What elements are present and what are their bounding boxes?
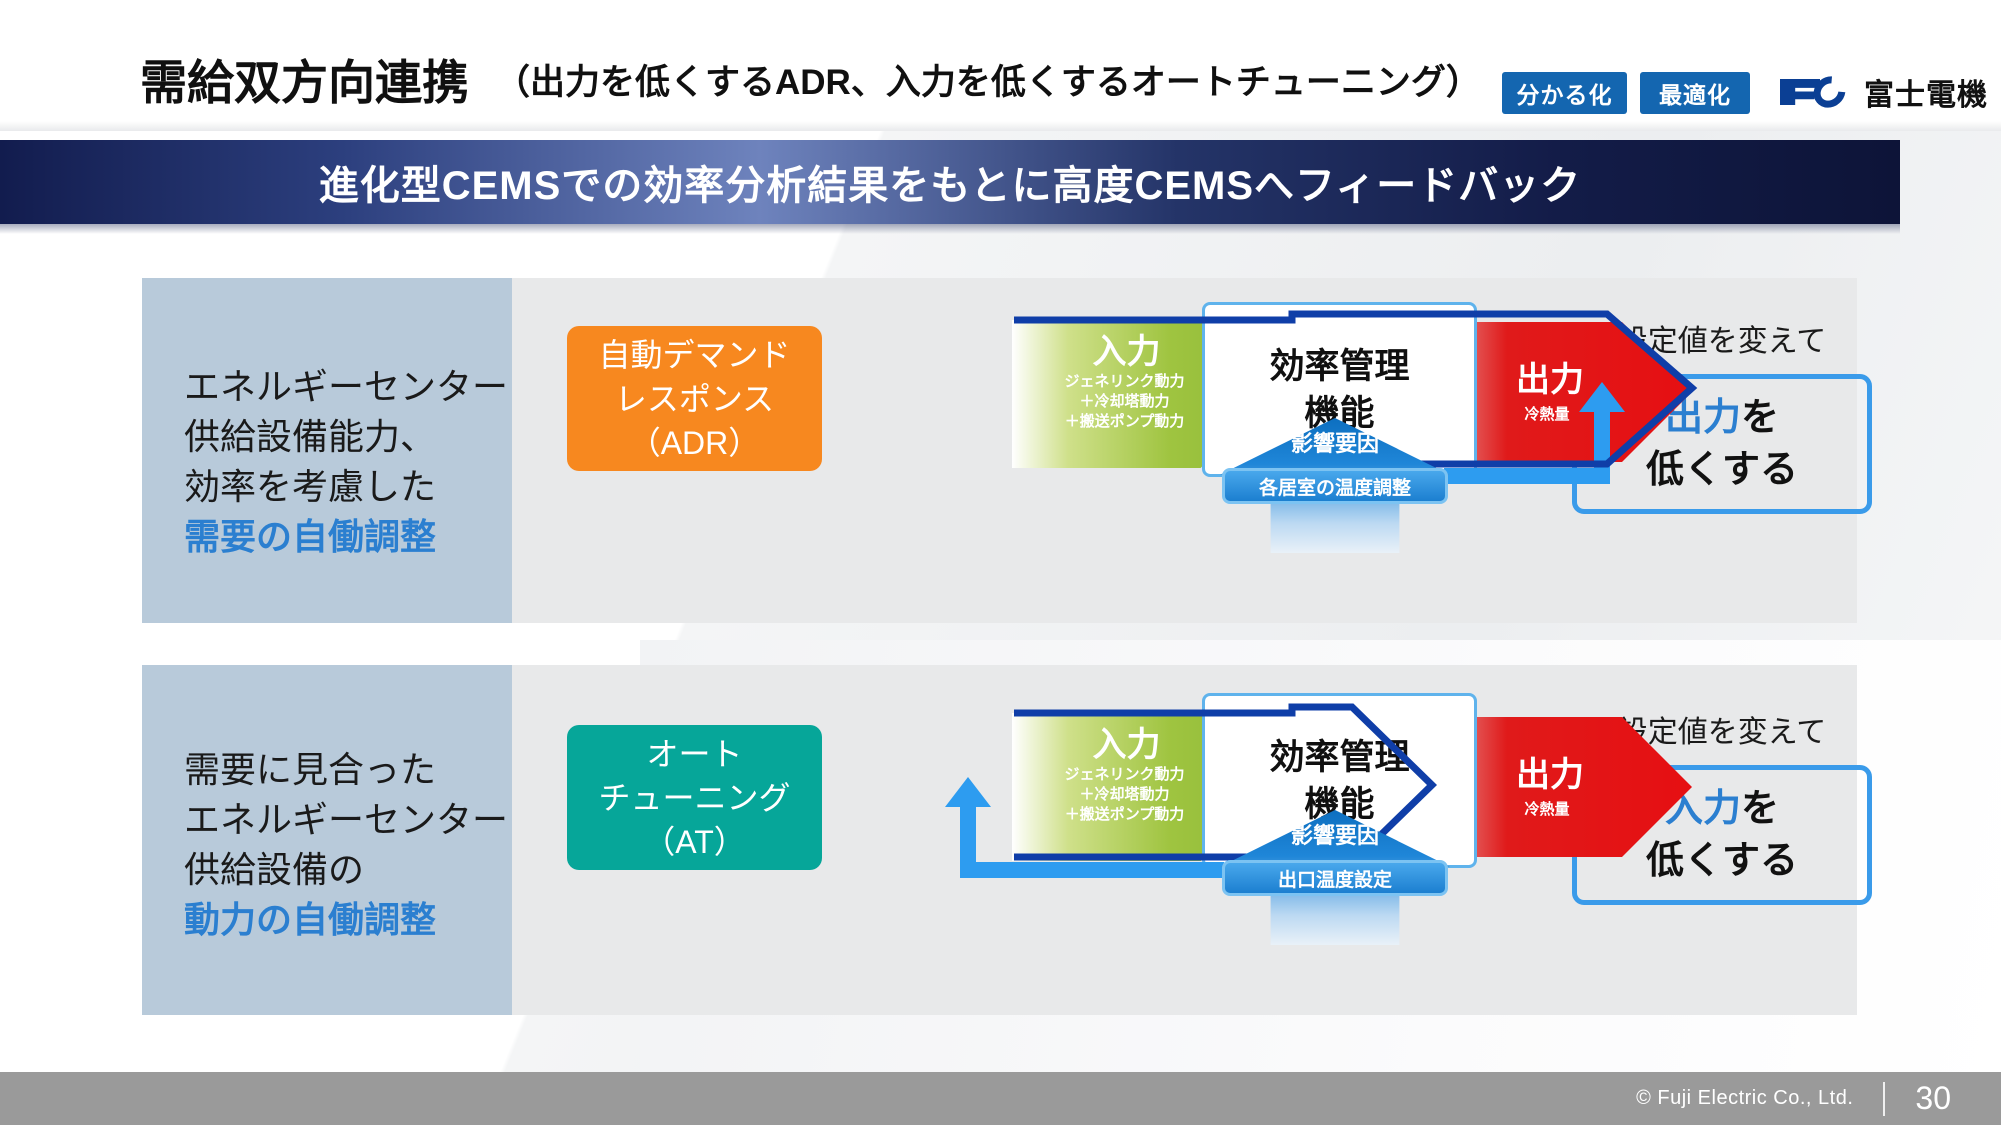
left-line-1: エネルギーセンター (184, 362, 508, 412)
row-left-description: 需要に見合った エネルギーセンター 供給設備の 動力の自働調整 (184, 745, 508, 945)
feedback-arrow-head-icon (945, 777, 991, 811)
logo-circle-shape (1807, 70, 1852, 114)
influence-title: 影響要因 (1220, 818, 1450, 850)
influence-factor-group: 影響要因 出口温度設定 (1220, 810, 1450, 945)
input-arrow-title: 入力 (1093, 332, 1161, 372)
output-detail: 冷熱量 (1524, 403, 1569, 424)
header-divider (0, 121, 2001, 131)
action-label-line-3: （AT） (643, 820, 746, 864)
influence-item-pill[interactable]: 各居室の温度調整 (1222, 468, 1448, 504)
center-card-line-1: 効率管理 (1269, 343, 1409, 390)
output-arrow-title: 出力 (1516, 756, 1584, 794)
action-box-adr[interactable]: 自動デマンド レスポンス （ADR） (567, 326, 822, 471)
row-left-panel: 需要に見合った エネルギーセンター 供給設備の 動力の自働調整 (142, 665, 512, 1015)
left-line-1: 需要に見合った (184, 745, 508, 795)
input-arrow-title: 入力 (1093, 725, 1161, 765)
footer-divider (1883, 1082, 1885, 1116)
footer-copyright: © Fuji Electric Co., Ltd. (1636, 1087, 1853, 1110)
output-arrow-title: 出力 (1516, 361, 1584, 399)
feedback-pipe-vertical (960, 805, 976, 865)
action-label-line-2: レスポンス (615, 377, 774, 421)
input-detail-2: ＋冷却塔動力 (1079, 785, 1169, 805)
influence-factor-group: 影響要因 各居室の温度調整 (1220, 418, 1450, 553)
action-label-line-2: チューニング (598, 776, 790, 820)
feedback-pipe-horizontal (1444, 468, 1610, 484)
slide-header: 需給双方向連携 （出力を低くするADR、入力を低くするオートチューニング） 分か… (0, 0, 2001, 122)
left-line-2: 供給設備能力、 (184, 412, 508, 462)
input-detail-1: ジェネリンク動力 (1064, 372, 1184, 392)
left-line-accent: 動力の自働調整 (184, 895, 508, 945)
influence-item-pill[interactable]: 出口温度設定 (1222, 860, 1448, 896)
left-line-3: 供給設備の (184, 845, 508, 895)
influence-title: 影響要因 (1220, 426, 1450, 458)
section-banner-shadow (0, 224, 1900, 234)
badge-wakaruka[interactable]: 分かる化 (1502, 72, 1627, 114)
row-left-description: エネルギーセンター 供給設備能力、 効率を考慮した 需要の自働調整 (184, 362, 508, 562)
fuji-logo-icon (1780, 75, 1854, 109)
output-detail: 冷熱量 (1524, 798, 1569, 819)
action-label-line-3: （ADR） (629, 421, 761, 465)
input-detail-1: ジェネリンク動力 (1064, 765, 1184, 785)
diagram-row-adr: エネルギーセンター 供給設備能力、 効率を考慮した 需要の自働調整 自動デマンド… (142, 278, 1857, 623)
feedback-pipe-horizontal (960, 862, 1224, 878)
input-detail-2: ＋冷却塔動力 (1079, 392, 1169, 412)
result-line-2: 低くする (1646, 835, 1798, 887)
feedback-arrow-head-icon (1579, 382, 1625, 416)
section-banner-text: 進化型CEMSでの効率分析結果をもとに高度CEMSへフィードバック (319, 153, 1582, 211)
fuji-electric-logo: 富士電機 (1780, 70, 1988, 114)
slide-footer: © Fuji Electric Co., Ltd. 30 (0, 1072, 2001, 1125)
row-left-panel: エネルギーセンター 供給設備能力、 効率を考慮した 需要の自働調整 (142, 278, 512, 623)
page-title: 需給双方向連携 (140, 44, 469, 113)
input-detail-3: ＋搬送ポンプ動力 (1065, 412, 1185, 432)
center-card-line-1: 効率管理 (1269, 734, 1409, 781)
section-banner: 進化型CEMSでの効率分析結果をもとに高度CEMSへフィードバック (0, 140, 1900, 224)
action-label-line-1: オート (646, 732, 742, 776)
action-box-at[interactable]: オート チューニング （AT） (567, 725, 822, 870)
badge-saitekika[interactable]: 最適化 (1640, 72, 1750, 114)
result-tail: を (1741, 788, 1779, 830)
page-subtitle: （出力を低くするADR、入力を低くするオートチューニング） (495, 54, 1481, 105)
logo-company-name: 富士電機 (1864, 70, 1988, 114)
left-line-accent: 需要の自働調整 (184, 512, 508, 562)
result-line-2: 低くする (1646, 444, 1798, 496)
diagram-row-at: 需要に見合った エネルギーセンター 供給設備の 動力の自働調整 オート チューニ… (142, 665, 1857, 1015)
footer-page-number: 30 (1915, 1080, 1951, 1117)
feedback-pipe-vertical (1594, 406, 1610, 478)
action-label-line-1: 自動デマンド (598, 333, 790, 377)
left-line-2: エネルギーセンター (184, 795, 508, 845)
result-tail: を (1741, 397, 1779, 439)
input-detail-3: ＋搬送ポンプ動力 (1065, 805, 1185, 825)
left-line-3: 効率を考慮した (184, 462, 508, 512)
